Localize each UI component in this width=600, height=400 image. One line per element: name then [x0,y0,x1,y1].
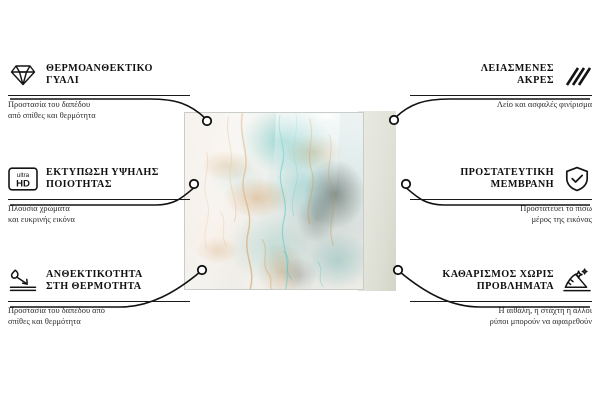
artwork-vein-lines [185,113,363,289]
product-image [184,112,396,290]
polished-edges-icon [562,60,592,90]
feature-divider [410,199,592,200]
feature-high-quality-print: ultra HD ΕΚΤΥΠΩΣΗ ΥΨΗΛΗΣ ΠΟΙΟΤΗΤΑΣ Πλούσ… [8,164,190,225]
feature-divider [8,301,190,302]
feature-description: Προστασία του δαπέδου από σπίθες και θερ… [8,306,190,327]
diamond-icon [8,60,38,90]
feature-description: Λείο και ασφαλές φινίρισμα [410,100,592,111]
connector-dot-5 [402,180,410,188]
feature-title: ΠΡΟΣΤΑΤΕΥΤΙΚΗ ΜΕΜΒΡΑΝΗ [410,167,554,192]
feature-header: ΑΝΘΕΚΤΙΚΟΤΗΤΑ ΣΤΗ ΘΕΡΜΟΤΗΤΑ [8,266,190,296]
easy-clean-icon [562,266,592,296]
feature-description: Η αιθάλη, η στάχτη ή άλλοι ρύποι μπορούν… [410,306,592,327]
ultra-hd-icon: ultra HD [8,164,38,194]
feature-divider [410,301,592,302]
feature-description: Προστατεύει το πίσω μέρος της εικόνας [410,204,592,225]
feature-protective-membrane: ΠΡΟΣΤΑΤΕΥΤΙΚΗ ΜΕΜΒΡΑΝΗ Προστατεύει το πί… [410,164,592,225]
feature-header: ultra HD ΕΚΤΥΠΩΣΗ ΥΨΗΛΗΣ ΠΟΙΟΤΗΤΑΣ [8,164,190,194]
feature-title: ΛΕΙΑΣΜΕΝΕΣ ΑΚΡΕΣ [410,63,554,88]
shield-check-icon [562,164,592,194]
heat-resistance-icon [8,266,38,296]
feature-header: ΚΑΘΑΡΙΣΜΟΣ ΧΩΡΙΣ ΠΡΟΒΛΗΜΑΤΑ [410,266,592,296]
feature-title: ΑΝΘΕΚΤΙΚΟΤΗΤΑ ΣΤΗ ΘΕΡΜΟΤΗΤΑ [46,269,190,294]
feature-easy-cleaning: ΚΑΘΑΡΙΣΜΟΣ ΧΩΡΙΣ ΠΡΟΒΛΗΜΑΤΑ Η αιθάλη, η … [410,266,592,327]
feature-title: ΘΕΡΜΟΑΝΘΕΚΤΙΚΟ ΓΥΑΛΙ [46,63,190,88]
infographic-root: ΘΕΡΜΟΑΝΘΕΚΤΙΚΟ ΓΥΑΛΙ Προστασία του δαπέδ… [0,0,600,400]
product-front-panel [184,112,364,290]
feature-header: ΘΕΡΜΟΑΝΘΕΚΤΙΚΟ ΓΥΑΛΙ [8,60,190,90]
feature-polished-edges: ΛΕΙΑΣΜΕΝΕΣ ΑΚΡΕΣ Λείο και ασφαλές φινίρι… [410,60,592,111]
feature-header: ΠΡΟΣΤΑΤΕΥΤΙΚΗ ΜΕΜΒΡΑΝΗ [410,164,592,194]
feature-divider [8,95,190,96]
feature-heat-resistant-glass: ΘΕΡΜΟΑΝΘΕΚΤΙΚΟ ΓΥΑΛΙ Προστασία του δαπέδ… [8,60,190,121]
svg-text:HD: HD [16,178,30,189]
feature-description: Πλούσια χρώματα και ευκρινής εικόνα [8,204,190,225]
feature-divider [410,95,592,96]
feature-heat-resistance: ΑΝΘΕΚΤΙΚΟΤΗΤΑ ΣΤΗ ΘΕΡΜΟΤΗΤΑ Προστασία το… [8,266,190,327]
feature-title: ΕΚΤΥΠΩΣΗ ΥΨΗΛΗΣ ΠΟΙΟΤΗΤΑΣ [46,167,190,192]
feature-description: Προστασία του δαπέδου από σπίθες και θερ… [8,100,190,121]
feature-divider [8,199,190,200]
feature-title: ΚΑΘΑΡΙΣΜΟΣ ΧΩΡΙΣ ΠΡΟΒΛΗΜΑΤΑ [410,269,554,294]
feature-header: ΛΕΙΑΣΜΕΝΕΣ ΑΚΡΕΣ [410,60,592,90]
